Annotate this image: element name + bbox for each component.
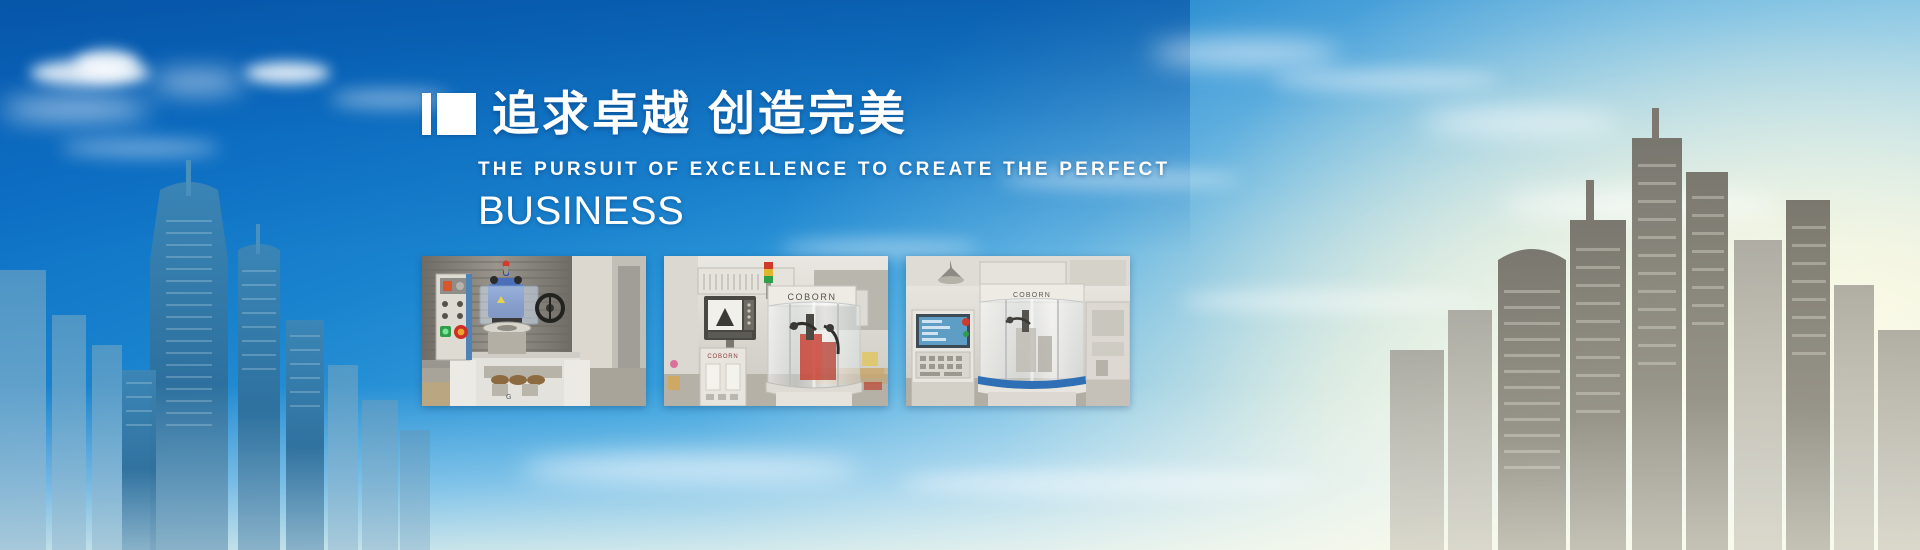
- logo-mark: [422, 93, 476, 135]
- subtitle-english: THE PURSUIT OF EXCELLENCE TO CREATE THE …: [478, 159, 1170, 181]
- city-skyline-left: [0, 120, 430, 550]
- logo-bar-icon: [422, 93, 431, 135]
- banner-text-block: 追求卓越 创造完美 THE PURSUIT OF EXCELLENCE TO C…: [422, 90, 1170, 233]
- headline-row: 追求卓越 创造完美: [422, 90, 1170, 137]
- svg-text:COBORN: COBORN: [707, 354, 738, 360]
- machine-photo-strip: G G: [422, 256, 1130, 406]
- city-skyline-right: [1390, 80, 1920, 550]
- photo-1-brand: G: [506, 394, 513, 401]
- svg-text:COBORN: COBORN: [787, 292, 836, 302]
- machine-photo-2[interactable]: COBORN COBORN: [664, 256, 888, 406]
- headline-chinese: 追求卓越 创造完美: [492, 90, 908, 137]
- hero-banner: 追求卓越 创造完美 THE PURSUIT OF EXCELLENCE TO C…: [0, 0, 1920, 550]
- machine-photo-3[interactable]: COBORN: [906, 256, 1130, 406]
- logo-square-icon: [437, 93, 476, 135]
- svg-text:COBORN: COBORN: [1013, 292, 1051, 299]
- business-word: BUSINESS: [478, 189, 1170, 233]
- machine-photo-1[interactable]: G G: [422, 256, 646, 406]
